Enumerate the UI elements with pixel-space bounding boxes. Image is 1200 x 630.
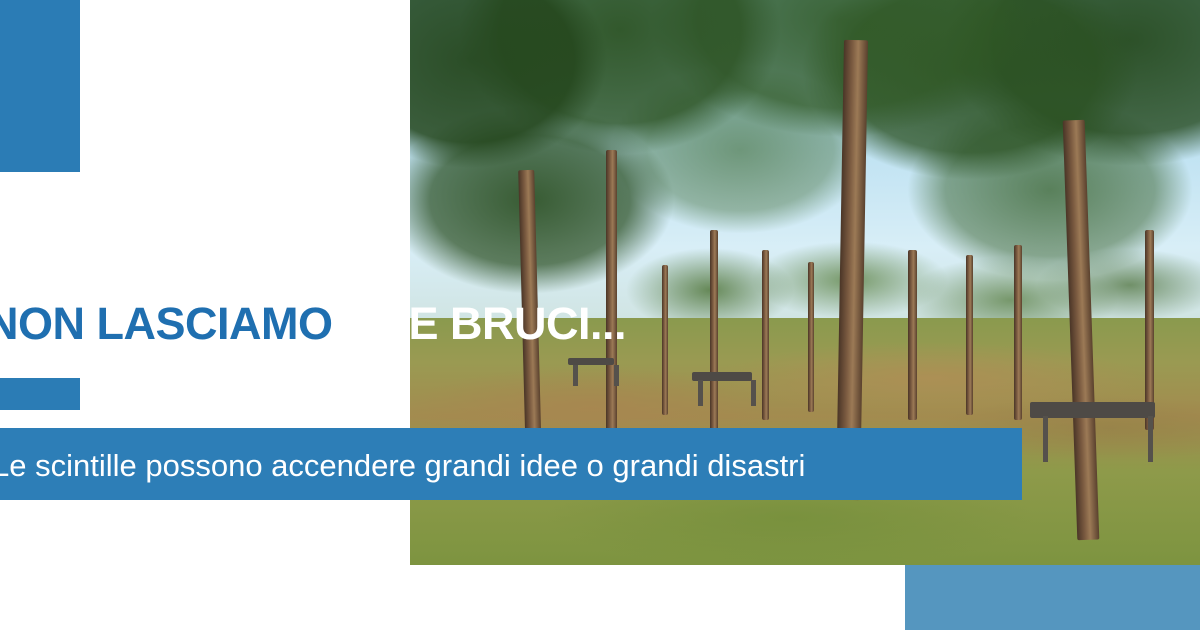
bottom-accent-block xyxy=(905,565,1200,630)
subtitle-text: Le scintille possono accendere grandi id… xyxy=(0,448,1012,484)
tree-trunk xyxy=(1145,230,1154,430)
picnic-table xyxy=(568,358,614,386)
picnic-table-legs xyxy=(1043,416,1153,462)
headline-blue-text: NON LASCIAMO xyxy=(0,298,333,349)
headline-white-text: CHE BRUCI... xyxy=(345,298,627,349)
promo-banner: NON LASCIAMO CHE BRUCI... Le scintille p… xyxy=(0,0,1200,630)
tree-trunk xyxy=(908,250,917,420)
picnic-table-legs xyxy=(573,365,620,386)
blue-accent-block-top xyxy=(0,0,80,172)
tree-trunk xyxy=(1014,245,1022,420)
headline: NON LASCIAMO CHE BRUCI... xyxy=(0,300,746,347)
tree-trunk xyxy=(762,250,769,420)
picnic-table xyxy=(692,372,752,406)
picnic-table xyxy=(1030,402,1155,462)
tree-trunk xyxy=(966,255,973,415)
tree-trunk xyxy=(808,262,814,412)
picnic-table-top xyxy=(1030,402,1155,418)
picnic-table-legs xyxy=(698,380,756,406)
blue-accent-block-small xyxy=(0,378,80,410)
